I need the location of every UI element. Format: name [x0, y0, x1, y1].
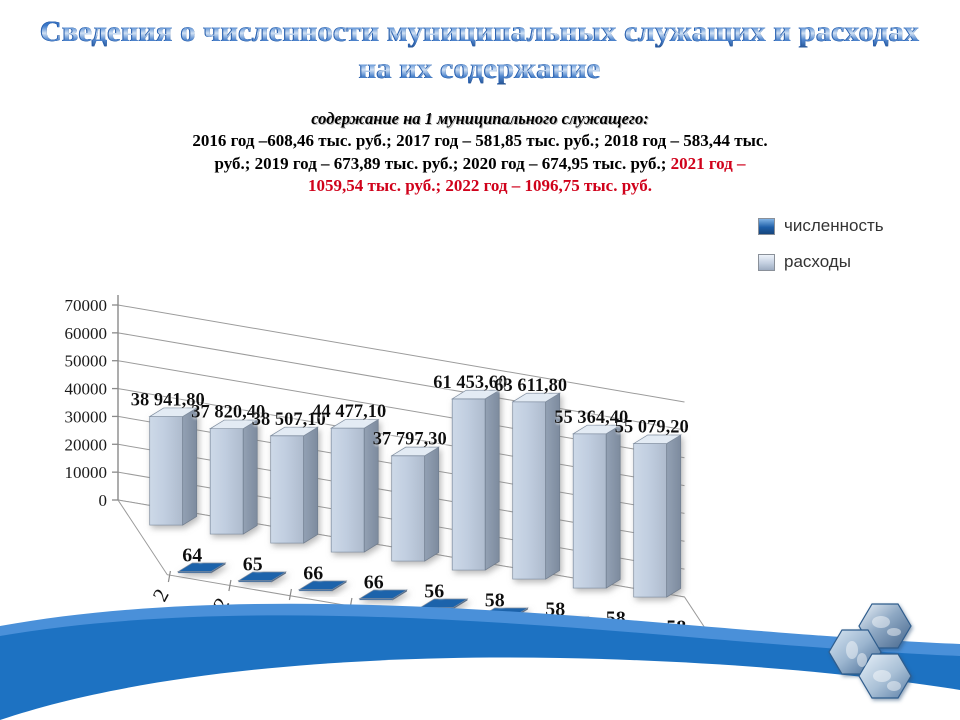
gridline-70000	[118, 305, 685, 402]
bar-label-expenses-3: 44 477,10	[312, 402, 386, 422]
bar-expenses-1[interactable]	[210, 420, 257, 534]
bar-expenses-4-front	[392, 456, 425, 561]
bar-expenses-4[interactable]	[392, 447, 439, 561]
bar-expenses-6[interactable]	[513, 393, 560, 579]
subtitle-line-3: 1059,54 тыс. руб.; 2022 год – 1096,75 ты…	[0, 175, 960, 198]
bar-label-count-0: 64	[182, 545, 202, 567]
bar-expenses-7-side	[606, 425, 620, 588]
bar-expenses-1-side	[243, 420, 257, 534]
bar-expenses-2[interactable]	[271, 427, 318, 543]
y-tick-label: 20000	[65, 435, 108, 454]
slide-canvas: Сведения о численности муниципальных слу…	[0, 0, 960, 720]
y-axis: 700006000050000400003000020000100000	[65, 295, 119, 510]
bar-expenses-0[interactable]	[150, 408, 197, 525]
bar-expenses-5[interactable]	[452, 390, 499, 570]
bar-expenses-0-front	[150, 417, 183, 525]
decorative-wave	[0, 570, 960, 720]
legend-swatch-expenses-icon	[758, 254, 775, 271]
page-title: Сведения о численности муниципальных слу…	[0, 14, 960, 87]
bar-label-expenses-6: 63 611,80	[494, 376, 567, 396]
organization-logo	[824, 592, 956, 716]
y-tick-label: 30000	[65, 407, 108, 426]
subtitle-line-2-red: 2021 год –	[671, 154, 746, 173]
y-tick-label: 60000	[65, 324, 108, 343]
y-tick-label: 10000	[65, 463, 108, 482]
bar-label-expenses-8: 55 079,20	[615, 418, 689, 438]
legend-item-expenses[interactable]: расходы	[758, 252, 884, 272]
y-tick-label: 70000	[65, 296, 108, 315]
y-tick-label: 50000	[65, 352, 108, 371]
bar-expenses-2-front	[271, 436, 304, 543]
bar-expenses-6-front	[513, 402, 546, 579]
bar-expenses-1-front	[210, 429, 243, 534]
title-line-2: на их содержание	[0, 51, 960, 88]
subtitle-block: содержание на 1 муниципального служащего…	[0, 108, 960, 198]
title-line-1: Сведения о численности муниципальных слу…	[0, 14, 960, 51]
bar-expenses-7[interactable]	[573, 425, 620, 588]
bar-expenses-0-side	[183, 408, 197, 525]
subtitle-line-1: 2016 год –608,46 тыс. руб.; 2017 год – 5…	[0, 130, 960, 153]
y-tick-label: 0	[99, 491, 108, 510]
bar-expenses-3[interactable]	[331, 420, 378, 553]
bar-expenses-2-side	[304, 427, 318, 543]
bar-expenses-5-side	[485, 390, 499, 570]
subtitle-line-2-black: руб.; 2019 год – 673,89 тыс. руб.; 2020 …	[214, 154, 670, 173]
legend-item-count[interactable]: численность	[758, 216, 884, 236]
bar-expenses-7-front	[573, 434, 606, 588]
legend-label-expenses: расходы	[784, 252, 851, 272]
legend-swatch-count-icon	[758, 218, 775, 235]
bar-expenses-4-side	[425, 447, 439, 561]
bar-expenses-3-front	[331, 428, 364, 552]
subtitle-line-2: руб.; 2019 год – 673,89 тыс. руб.; 2020 …	[0, 153, 960, 176]
legend-label-count: численность	[784, 216, 884, 236]
chart-legend: численность расходы	[758, 216, 884, 288]
bar-label-expenses-4: 37 797,30	[373, 430, 447, 450]
subtitle-heading: содержание на 1 муниципального служащего…	[0, 108, 960, 130]
bar-expenses-5-front	[452, 399, 485, 570]
y-tick-label: 40000	[65, 380, 108, 399]
